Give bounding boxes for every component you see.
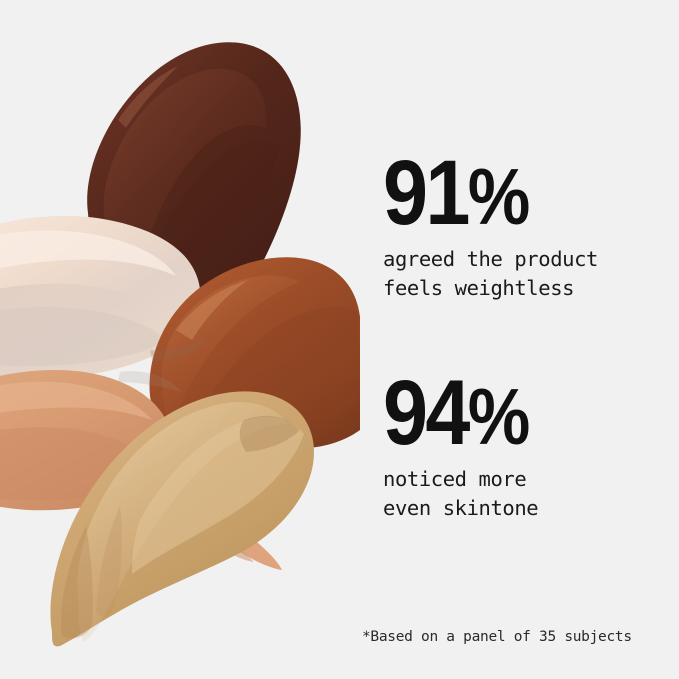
stats-column: 91% agreed the product feels weightless … — [383, 0, 673, 679]
stat-caption-skintone: noticed more even skintone — [383, 465, 673, 523]
foundation-shade-swatches — [0, 0, 360, 679]
stat-figure-91: 91% — [383, 148, 638, 238]
stat-block-skintone: 94% noticed more even skintone — [383, 368, 673, 523]
percent-symbol: % — [468, 152, 529, 241]
stat-block-weightless: 91% agreed the product feels weightless — [383, 148, 673, 303]
percent-symbol: % — [468, 372, 529, 461]
stat-number: 91 — [383, 142, 468, 244]
stat-figure-94: 94% — [383, 368, 638, 458]
promo-poster: 91% agreed the product feels weightless … — [0, 0, 679, 679]
stat-number: 94 — [383, 362, 468, 464]
footnote-disclaimer: *Based on a panel of 35 subjects — [362, 628, 632, 647]
stat-caption-weightless: agreed the product feels weightless — [383, 245, 673, 303]
